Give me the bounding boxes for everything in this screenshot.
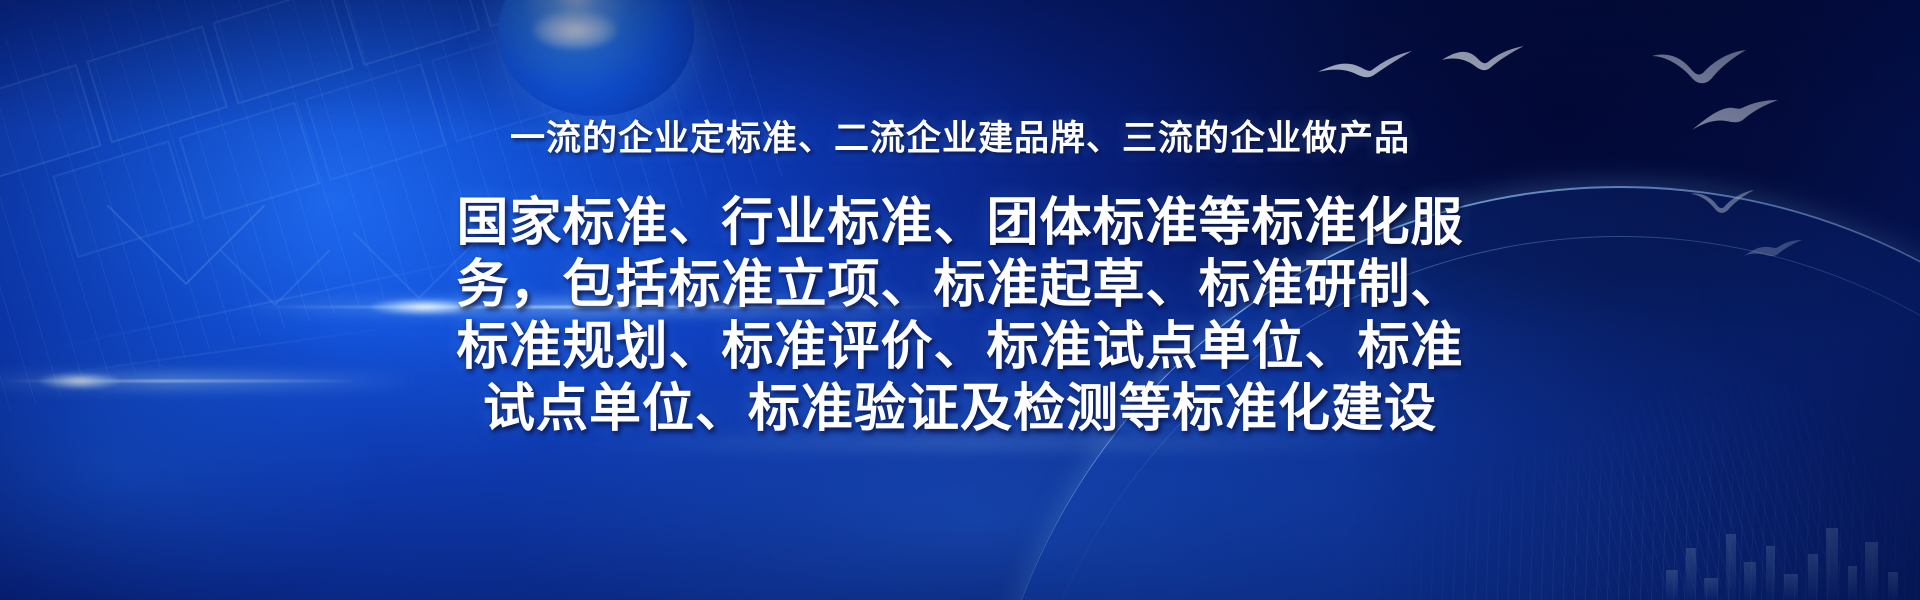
promo-banner: 一流的企业定标准、二流企业建品牌、三流的企业做产品 国家标准、行业标准、团体标准… [0, 0, 1920, 600]
background-vignette [0, 0, 1920, 600]
